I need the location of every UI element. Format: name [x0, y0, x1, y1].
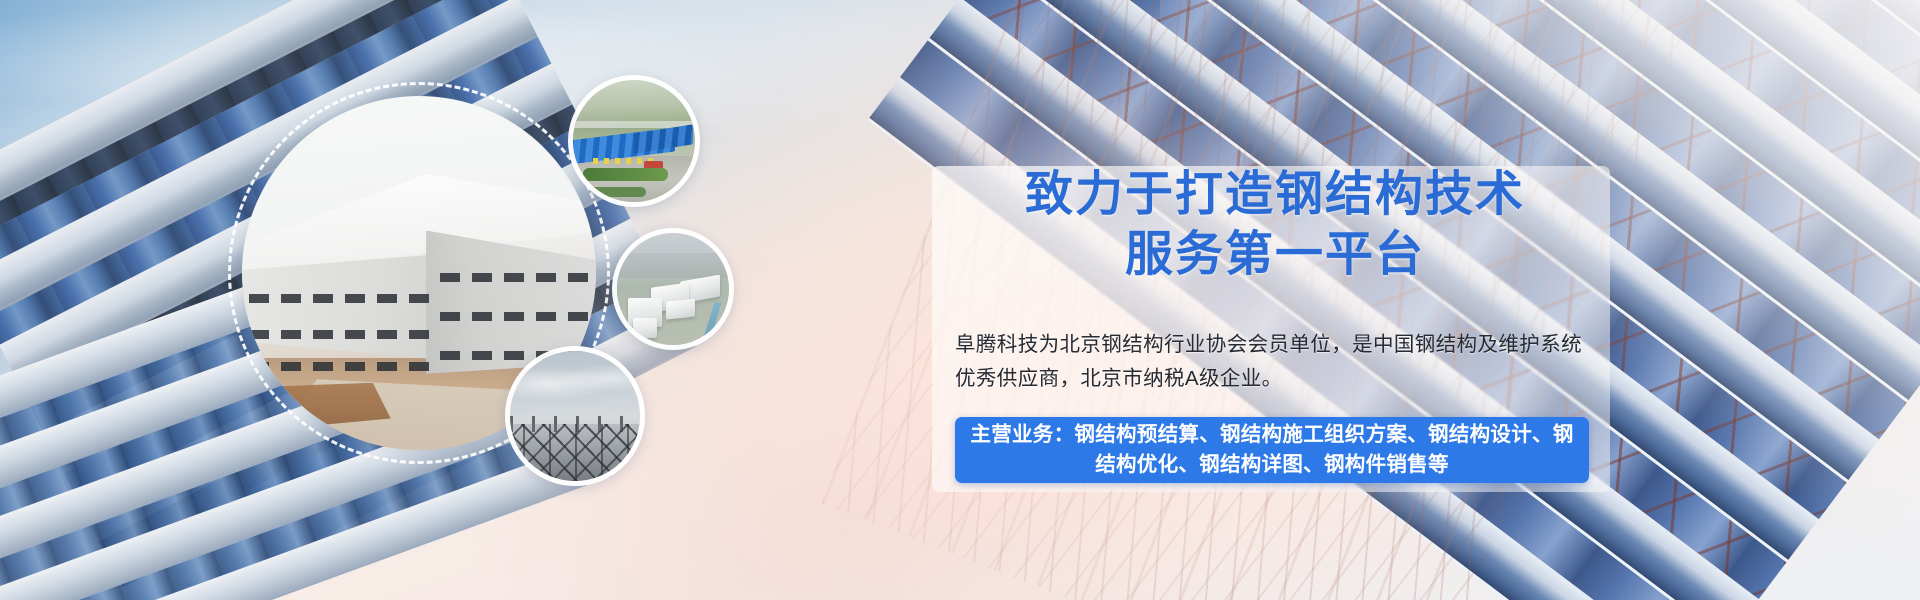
photo-circle-cluster: [150, 30, 890, 570]
thumb-circle-factory-aerial: [568, 75, 700, 207]
main-business-badge-text: 主营业务：钢结构预结算、钢结构施工组织方案、钢结构设计、钢结构优化、钢结构详图、…: [955, 420, 1589, 480]
headline-line-2: 服务第一平台: [975, 224, 1575, 284]
headline-line-1: 致力于打造钢结构技术: [1025, 166, 1525, 222]
page-title: 致力于打造钢结构技术服务第一平台: [975, 164, 1575, 284]
thumb-circle-campus-aerial: [612, 228, 734, 350]
hero-banner: 致力于打造钢结构技术服务第一平台 阜腾科技为北京钢结构行业协会会员单位，是中国钢…: [0, 0, 1920, 600]
description-text: 阜腾科技为北京钢结构行业协会会员单位，是中国钢结构及维护系统优秀供应商，北京市纳…: [955, 328, 1589, 396]
main-business-badge: 主营业务：钢结构预结算、钢结构施工组织方案、钢结构设计、钢结构优化、钢结构详图、…: [955, 417, 1589, 483]
thumb-circle-steel-truss: [505, 346, 645, 486]
